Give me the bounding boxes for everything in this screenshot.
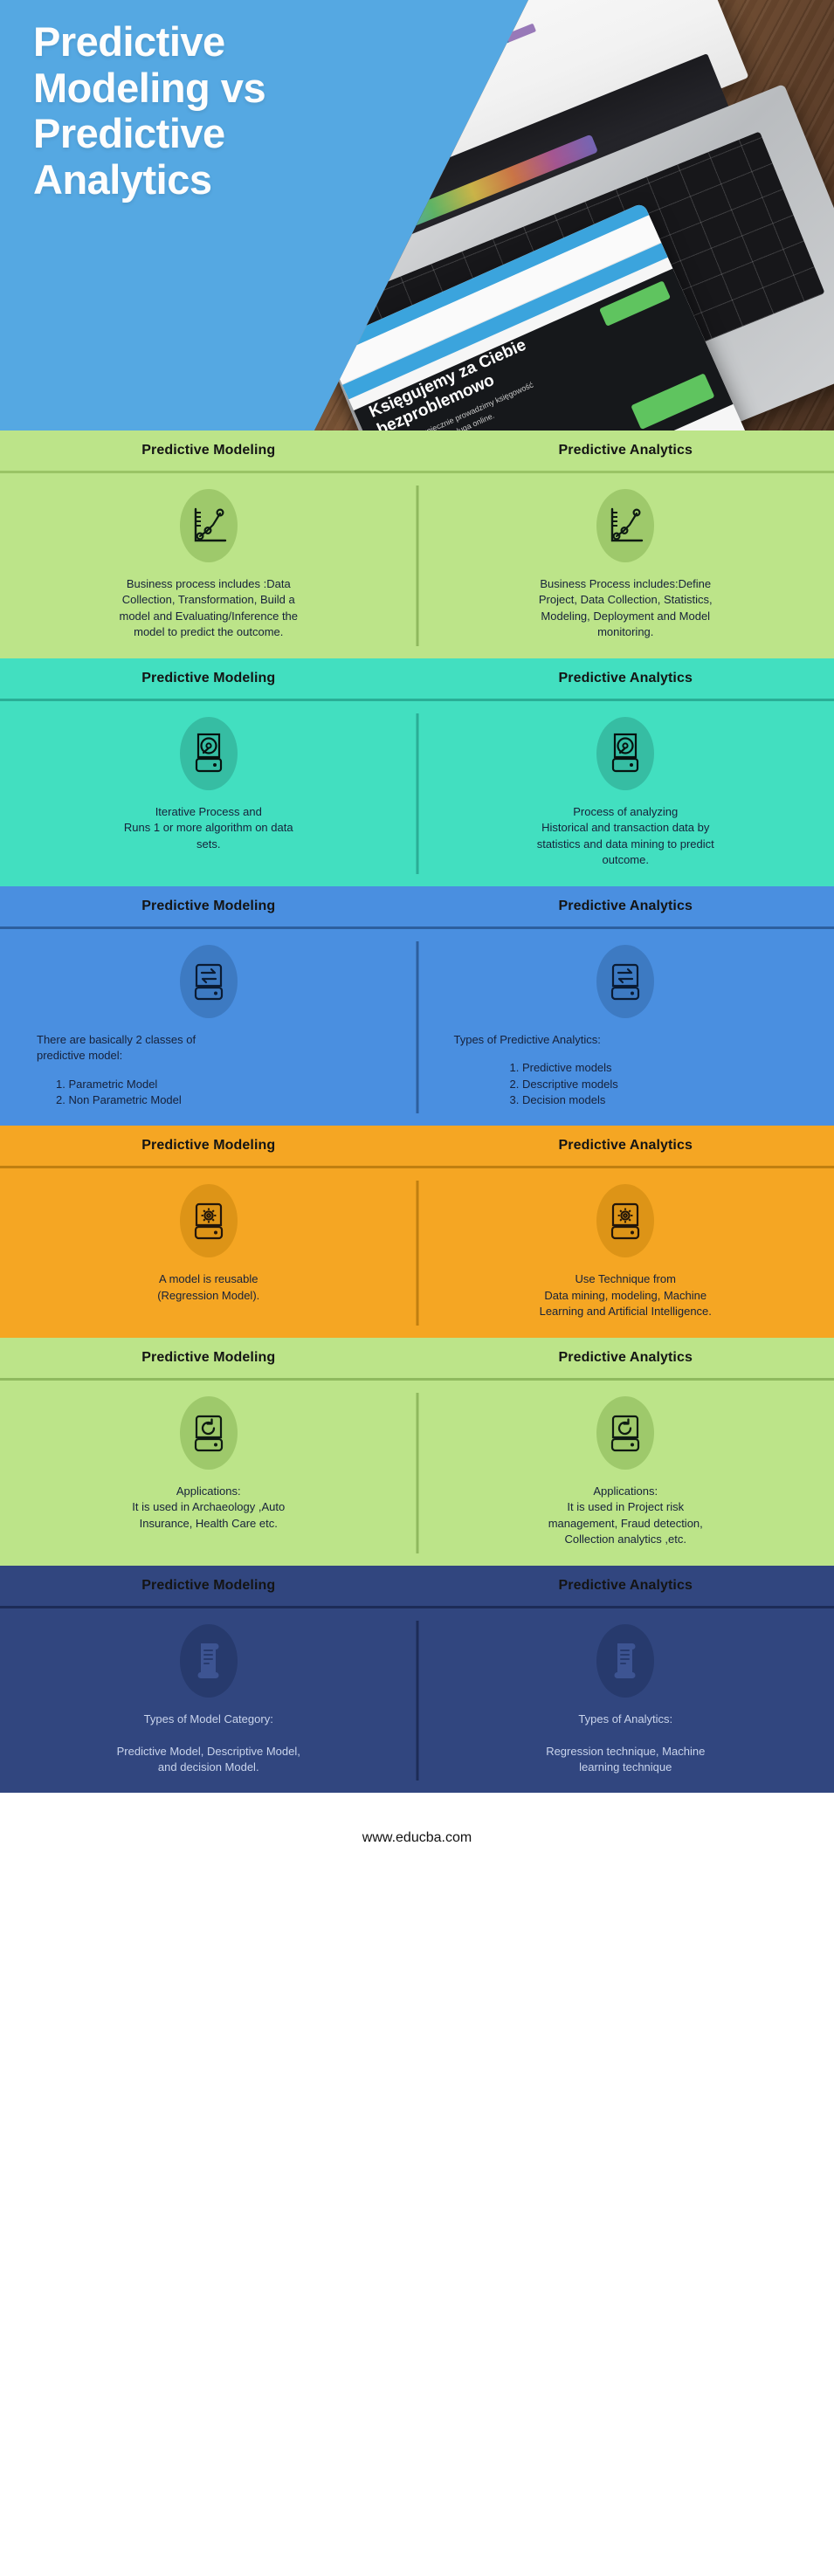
hero-banner: Księgujemy za Ciebiebezproblemowo Szybko…: [0, 0, 834, 430]
column-right: Types of Analytics:Regression technique,…: [417, 1624, 834, 1776]
comparison-section-categories: Predictive Modeling Predictive Analytics…: [0, 1566, 834, 1794]
column-divider: [416, 1181, 418, 1325]
comparison-section-classes-types: Predictive Modeling Predictive Analytics…: [0, 886, 834, 1126]
section-description: Types of Predictive Analytics:: [454, 1032, 798, 1048]
section-description: There are basically 2 classes ofpredicti…: [37, 1032, 381, 1064]
footer-url[interactable]: www.educba.com: [362, 1830, 472, 1846]
screen-color-swatches: [363, 24, 536, 100]
column-header-right: Predictive Analytics: [417, 443, 834, 458]
section-description: Types of Model Category:Predictive Model…: [117, 1712, 300, 1776]
column-header-left: Predictive Modeling: [0, 1578, 417, 1594]
column-header-right: Predictive Analytics: [417, 1578, 834, 1594]
hero-photo: Księgujemy za Ciebiebezproblemowo Szybko…: [223, 0, 834, 430]
comparison-section-process-nature: Predictive Modeling Predictive Analytics…: [0, 658, 834, 886]
line-chart-icon: [596, 489, 654, 562]
section-header-row: Predictive Modeling Predictive Analytics: [0, 1566, 834, 1606]
section-body: A model is reusable(Regression Model). U…: [0, 1168, 834, 1337]
column-header-left: Predictive Modeling: [0, 899, 417, 914]
column-right: Process of analyzingHistorical and trans…: [417, 717, 834, 869]
section-description: Business process includes :DataCollectio…: [119, 576, 298, 641]
screen-card: [346, 0, 493, 29]
page-title: Predictive Modeling vs Predictive Analyt…: [33, 19, 265, 203]
column-divider: [416, 1393, 418, 1553]
data-exchange-icon: [596, 945, 654, 1018]
column-header-left: Predictive Modeling: [0, 443, 417, 458]
comparison-section-reusability-technique: Predictive Modeling Predictive Analytics…: [0, 1126, 834, 1337]
line-chart-icon: [180, 489, 238, 562]
section-body: Iterative Process andRuns 1 or more algo…: [0, 701, 834, 886]
section-description: A model is reusable(Regression Model).: [157, 1271, 259, 1304]
section-list: 1. Parametric Model2. Non Parametric Mod…: [37, 1077, 381, 1109]
column-divider: [416, 713, 418, 874]
section-description: Use Technique fromData mining, modeling,…: [540, 1271, 712, 1319]
section-description: Iterative Process andRuns 1 or more algo…: [124, 804, 293, 852]
column-left: Applications:It is used in Archaeology ,…: [0, 1396, 417, 1548]
gear-drive-icon: [596, 1184, 654, 1257]
section-header-row: Predictive Modeling Predictive Analytics: [0, 1338, 834, 1378]
section-list: 1. Predictive models2. Descriptive model…: [454, 1060, 798, 1108]
column-divider: [416, 941, 418, 1114]
section-header-row: Predictive Modeling Predictive Analytics: [0, 430, 834, 471]
column-right: Business Process includes:DefineProject,…: [417, 489, 834, 641]
gear-drive-icon: [180, 1184, 238, 1257]
section-body: Types of Model Category:Predictive Model…: [0, 1608, 834, 1794]
column-left: There are basically 2 classes ofpredicti…: [0, 945, 417, 1109]
column-header-left: Predictive Modeling: [0, 671, 417, 686]
section-body: Applications:It is used in Archaeology ,…: [0, 1381, 834, 1566]
scroll-document-icon: [180, 1624, 238, 1698]
column-header-right: Predictive Analytics: [417, 899, 834, 914]
section-description: Business Process includes:DefineProject,…: [539, 576, 713, 641]
scroll-document-icon: [596, 1624, 654, 1698]
column-header-right: Predictive Analytics: [417, 1138, 834, 1154]
column-left: A model is reusable(Regression Model).: [0, 1184, 417, 1319]
comparison-section-business-process: Predictive Modeling Predictive Analytics…: [0, 430, 834, 658]
restore-drive-icon: [180, 1396, 238, 1470]
column-header-left: Predictive Modeling: [0, 1350, 417, 1366]
column-divider: [416, 486, 418, 646]
infographic-page: Księgujemy za Ciebiebezproblemowo Szybko…: [0, 0, 834, 1884]
column-right: Types of Predictive Analytics:1. Predict…: [417, 945, 834, 1109]
comparison-section-applications: Predictive Modeling Predictive Analytics…: [0, 1338, 834, 1566]
section-header-row: Predictive Modeling Predictive Analytics: [0, 1126, 834, 1166]
footer: www.educba.com: [0, 1793, 834, 1884]
tablet-cta-button[interactable]: [631, 373, 714, 430]
section-body: There are basically 2 classes ofpredicti…: [0, 929, 834, 1126]
column-header-right: Predictive Analytics: [417, 1350, 834, 1366]
column-divider: [416, 1621, 418, 1781]
column-left: Iterative Process andRuns 1 or more algo…: [0, 717, 417, 869]
hard-drive-icon: [180, 717, 238, 790]
section-description: Applications:It is used in Archaeology ,…: [132, 1484, 285, 1532]
column-left: Types of Model Category:Predictive Model…: [0, 1624, 417, 1776]
section-description: Types of Analytics:Regression technique,…: [546, 1712, 705, 1776]
restore-drive-icon: [596, 1396, 654, 1470]
column-right: Applications:It is used in Project riskm…: [417, 1396, 834, 1548]
column-header-right: Predictive Analytics: [417, 671, 834, 686]
section-header-row: Predictive Modeling Predictive Analytics: [0, 886, 834, 926]
column-right: Use Technique fromData mining, modeling,…: [417, 1184, 834, 1319]
column-left: Business process includes :DataCollectio…: [0, 489, 417, 641]
section-description: Process of analyzingHistorical and trans…: [537, 804, 714, 869]
hard-drive-icon: [596, 717, 654, 790]
section-header-row: Predictive Modeling Predictive Analytics: [0, 658, 834, 699]
section-body: Business process includes :DataCollectio…: [0, 473, 834, 658]
column-header-left: Predictive Modeling: [0, 1138, 417, 1154]
section-description: Applications:It is used in Project riskm…: [548, 1484, 703, 1548]
comparison-sections: Predictive Modeling Predictive Analytics…: [0, 430, 834, 1793]
data-exchange-icon: [180, 945, 238, 1018]
